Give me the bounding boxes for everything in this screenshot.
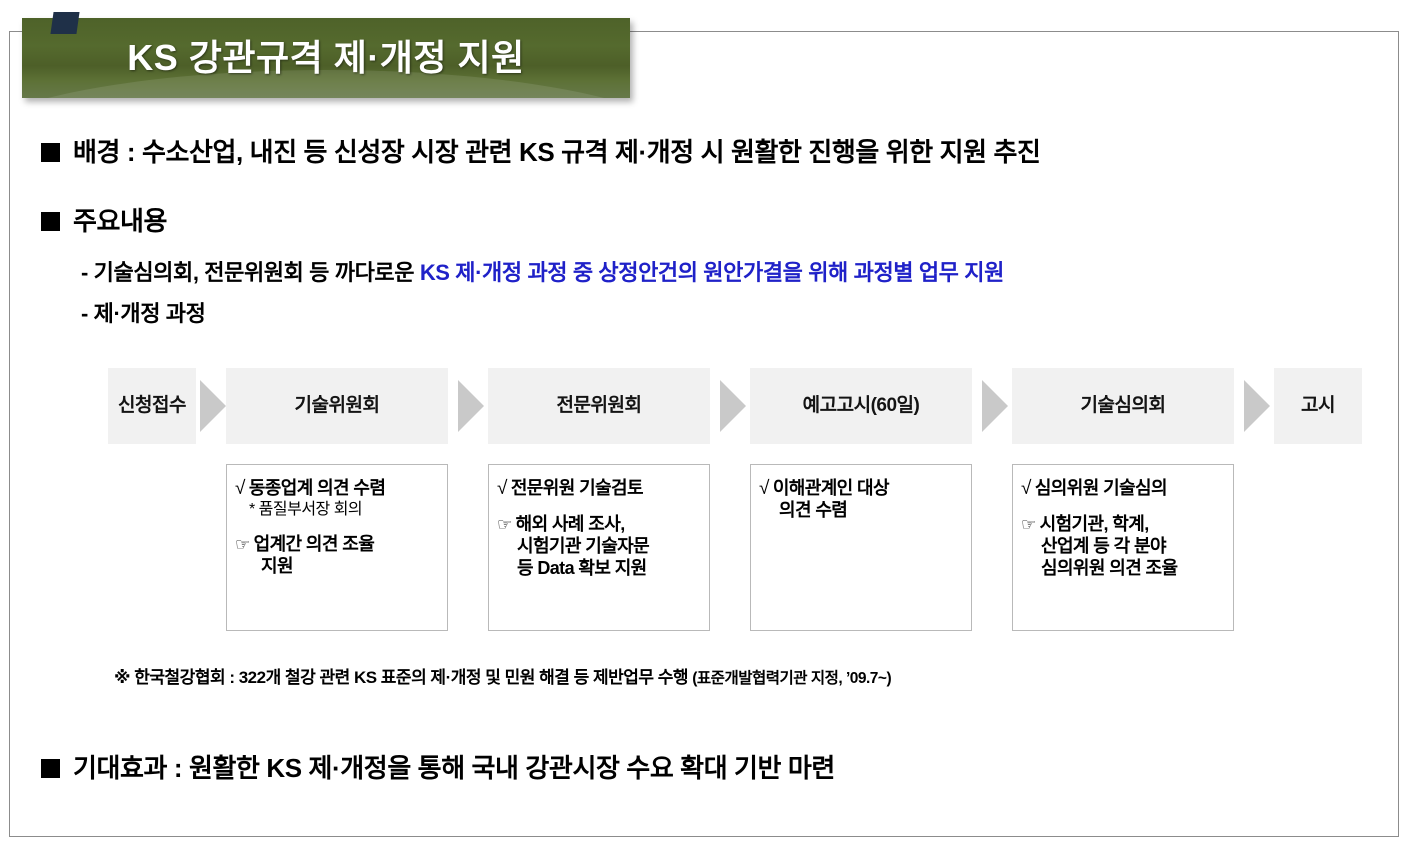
bullet-expected-effect: 기대효과 : 원활한 KS 제·개정을 통해 국내 강관시장 수요 확대 기반 … (41, 748, 835, 785)
flow-arrow-icon (200, 380, 226, 432)
main-content-line-1: - 기술심의회, 전문위원회 등 까다로운 KS 제·개정 과정 중 상정안건의… (81, 255, 1004, 287)
detail-box-technical-committee: √동종업계 의견 수렴 * 품질부서장 회의 ☞업계간 의견 조율 지원 (226, 464, 448, 631)
check-icon: √ (759, 477, 769, 500)
main-content-title: 주요내용 (73, 201, 167, 238)
detail-hand-text: 해외 사례 조사, (516, 514, 625, 534)
spacer (235, 520, 439, 534)
flow-step-expert-committee: 전문위원회 (488, 368, 710, 444)
square-bullet-icon (41, 143, 60, 162)
flow-step-notification: 고시 (1274, 368, 1362, 444)
reference-mark-icon: ※ (114, 668, 130, 687)
detail-hand-line: ☞해외 사례 조사, (497, 514, 701, 536)
pointing-hand-icon: ☞ (1021, 515, 1036, 536)
check-icon: √ (1021, 477, 1031, 500)
main-content-line-1-highlight: KS 제·개정 과정 중 상정안건의 원안가결을 위해 과정별 업무 지원 (420, 260, 1004, 285)
flow-step-preliminary-notice: 예고고시(60일) (750, 368, 972, 444)
detail-check-line: √전문위원 기술검토 (497, 477, 701, 500)
detail-hand-text-2: 산업계 등 각 분야 (1021, 536, 1225, 558)
bullet-background: 배경 : 수소산업, 내진 등 신성장 시장 관련 KS 규격 제·개정 시 원… (41, 132, 1041, 169)
spacer (497, 500, 701, 514)
detail-check-text: 심의위원 기술심의 (1035, 478, 1167, 498)
detail-check-line: √동종업계 의견 수렴 (235, 477, 439, 500)
flow-arrow-icon (458, 380, 484, 432)
detail-check-text: 이해관계인 대상 (773, 478, 889, 498)
detail-check-line: √이해관계인 대상 (759, 477, 963, 500)
main-content-line-2-plain: 제·개정 과정 (88, 301, 206, 326)
detail-sub-text: * 품질부서장 회의 (235, 500, 439, 520)
footnote-main-text: 한국철강협회 : 322개 철강 관련 KS 표준의 제·개정 및 민원 해결 … (134, 668, 688, 687)
expected-effect-text: 기대효과 : 원활한 KS 제·개정을 통해 국내 강관시장 수요 확대 기반 … (73, 748, 835, 785)
detail-box-preliminary-notice: √이해관계인 대상 의견 수렴 (750, 464, 972, 631)
detail-box-expert-committee: √전문위원 기술검토 ☞해외 사례 조사, 시험기관 기술자문 등 Data 확… (488, 464, 710, 631)
footnote: ※ 한국철강협회 : 322개 철강 관련 KS 표준의 제·개정 및 민원 해… (114, 663, 891, 688)
flow-step-application: 신청접수 (108, 368, 196, 444)
flow-arrow-icon (1244, 380, 1270, 432)
main-content-line-1-plain: 기술심의회, 전문위원회 등 까다로운 (88, 260, 420, 285)
dash-marker: - (81, 260, 88, 285)
detail-hand-text-3: 심의위원 의견 조율 (1021, 558, 1225, 580)
pointing-hand-icon: ☞ (235, 535, 250, 556)
square-bullet-icon (41, 759, 60, 778)
spacer (1021, 500, 1225, 514)
bullet-main-content: 주요내용 (41, 201, 167, 238)
background-text: 배경 : 수소산업, 내진 등 신성장 시장 관련 KS 규격 제·개정 시 원… (73, 132, 1041, 169)
footnote-paren-text: (표준개발협력기관 지정, ’09.7~) (692, 670, 891, 687)
detail-hand-text-2: 시험기관 기술자문 (497, 536, 701, 558)
flow-arrow-icon (720, 380, 746, 432)
detail-hand-text-2: 지원 (235, 556, 439, 578)
flow-arrow-icon (982, 380, 1008, 432)
detail-hand-text-3: 등 Data 확보 지원 (497, 558, 701, 580)
page-title: KS 강관규격 제·개정 지원 (22, 18, 630, 98)
detail-check-text: 동종업계 의견 수렴 (249, 478, 385, 498)
detail-check-text: 전문위원 기술검토 (511, 478, 643, 498)
detail-hand-text: 업계간 의견 조율 (254, 534, 375, 554)
check-icon: √ (497, 477, 507, 500)
flow-step-deliberation-committee: 기술심의회 (1012, 368, 1234, 444)
pointing-hand-icon: ☞ (497, 515, 512, 536)
detail-box-deliberation-committee: √심의위원 기술심의 ☞시험기관, 학계, 산업계 등 각 분야 심의위원 의견… (1012, 464, 1234, 631)
square-bullet-icon (41, 212, 60, 231)
check-icon: √ (235, 477, 245, 500)
title-banner: KS 강관규격 제·개정 지원 (22, 18, 630, 98)
detail-hand-line: ☞시험기관, 학계, (1021, 514, 1225, 536)
main-content-line-2: - 제·개정 과정 (81, 296, 206, 328)
dash-marker: - (81, 301, 88, 326)
flow-step-technical-committee: 기술위원회 (226, 368, 448, 444)
detail-hand-line: ☞업계간 의견 조율 (235, 534, 439, 556)
slide-content: 배경 : 수소산업, 내진 등 신성장 시장 관련 KS 규격 제·개정 시 원… (9, 31, 1399, 837)
detail-check-line: √심의위원 기술심의 (1021, 477, 1225, 500)
detail-check-text-2: 의견 수렴 (759, 500, 963, 522)
detail-hand-text: 시험기관, 학계, (1040, 514, 1149, 534)
